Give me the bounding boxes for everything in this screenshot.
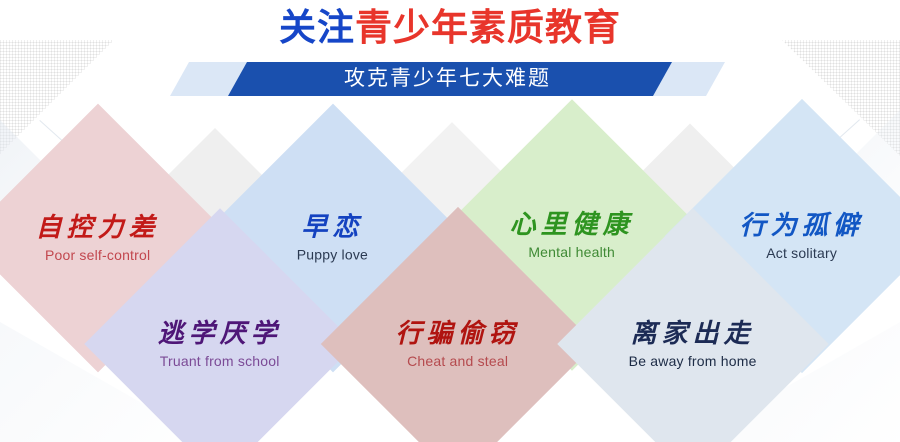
diamond-card-content: 行骗偷窃Cheat and steal xyxy=(396,320,520,367)
page-title: 关注青少年素质教育 xyxy=(0,5,900,51)
diamond-title-cn: 行骗偷窃 xyxy=(396,320,520,346)
diamond-card-content: 逃学厌学Truant from school xyxy=(158,320,282,367)
diamond-title-cn: 早恋 xyxy=(297,215,368,241)
diamond-title-cn: 离家出走 xyxy=(629,321,757,347)
diamond-title-cn: 自控力差 xyxy=(36,214,160,240)
subtitle-banner: 攻克青少年七大难题 xyxy=(170,62,725,96)
diamond-title-cn: 心里健康 xyxy=(510,211,634,237)
diamond-card-content: 心里健康Mental health xyxy=(510,211,634,258)
page-title-blue-part: 关注 xyxy=(279,7,355,48)
diamond-card-content: 行为孤僻Act solitary xyxy=(740,212,864,259)
diamond-title-en: Poor self-control xyxy=(36,247,160,261)
page-title-red-part: 青少年素质教育 xyxy=(355,7,621,48)
diamond-card-content: 离家出走Be away from home xyxy=(629,321,757,368)
diamond-title-cn: 逃学厌学 xyxy=(158,320,282,346)
diamond-title-en: Act solitary xyxy=(740,245,864,259)
diamond-title-en: Be away from home xyxy=(629,354,757,368)
diamond-title-en: Truant from school xyxy=(158,353,282,367)
banner-label: 攻克青少年七大难题 xyxy=(170,62,725,96)
diamond-title-en: Puppy love xyxy=(297,248,368,262)
poster-canvas: 关注青少年素质教育 攻克青少年七大难题 自控力差Poor self-contro… xyxy=(0,0,900,442)
diamond-card-content: 自控力差Poor self-control xyxy=(36,214,160,261)
diamond-title-cn: 行为孤僻 xyxy=(740,212,864,238)
diamond-title-en: Mental health xyxy=(510,244,634,258)
diamond-card-content: 早恋Puppy love xyxy=(297,215,368,262)
diamond-title-en: Cheat and steal xyxy=(396,353,520,367)
